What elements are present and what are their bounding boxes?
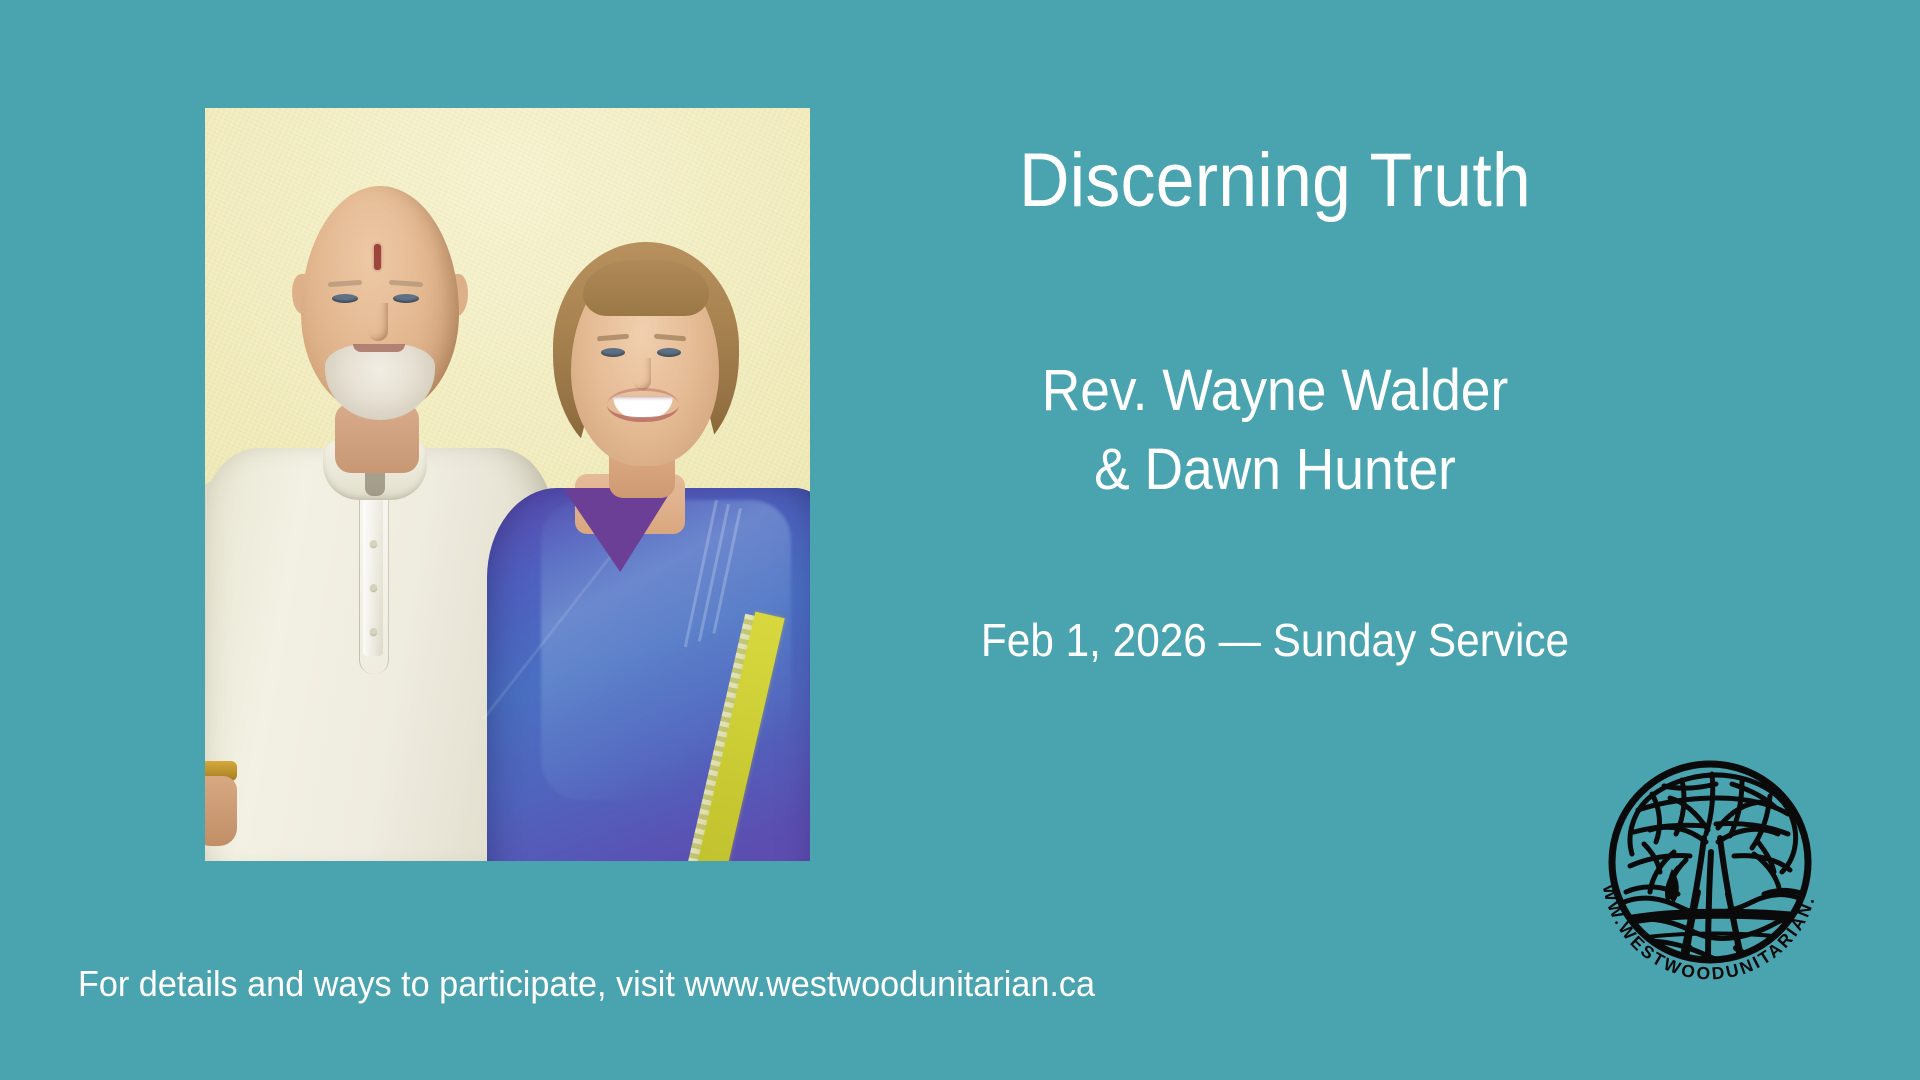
westwood-unitarian-logo[interactable]: WWW.WESTWOODUNITARIAN.CA: [1578, 742, 1842, 1006]
slide-canvas: Discerning Truth Rev. Wayne Walder & Daw…: [0, 0, 1920, 1080]
woman-lips: [607, 388, 679, 422]
forehead-tilak-mark: [374, 244, 381, 270]
service-dateline: Feb 1, 2026 — Sunday Service: [912, 615, 1639, 666]
kurta-button: [370, 540, 377, 547]
photo-background: [205, 108, 810, 861]
man-left-eye: [332, 294, 358, 303]
man-left-hand: [205, 776, 237, 846]
man-right-eye: [393, 294, 419, 303]
text-column: Discerning Truth Rev. Wayne Walder & Daw…: [880, 0, 1670, 1080]
footer-details-text: For details and ways to participate, vis…: [78, 962, 1095, 1005]
woman-fringe-bangs: [583, 260, 709, 316]
speaker-line-2: & Dawn Hunter: [912, 431, 1639, 510]
kurta-button: [370, 584, 377, 591]
man-mouth: [353, 344, 405, 352]
speaker-line-1: Rev. Wayne Walder: [912, 352, 1639, 431]
speakers-photo: [205, 108, 810, 861]
person-dawn-hunter: [505, 238, 810, 861]
woman-left-eye: [601, 348, 625, 357]
sermon-title: Discerning Truth: [912, 143, 1639, 219]
man-nose: [368, 303, 388, 341]
kurta-button: [370, 628, 377, 635]
logo-water: [1630, 914, 1804, 920]
woman-right-eye: [657, 348, 681, 357]
speaker-names: Rev. Wayne Walder & Dawn Hunter: [912, 352, 1639, 510]
woman-nose: [633, 358, 651, 390]
